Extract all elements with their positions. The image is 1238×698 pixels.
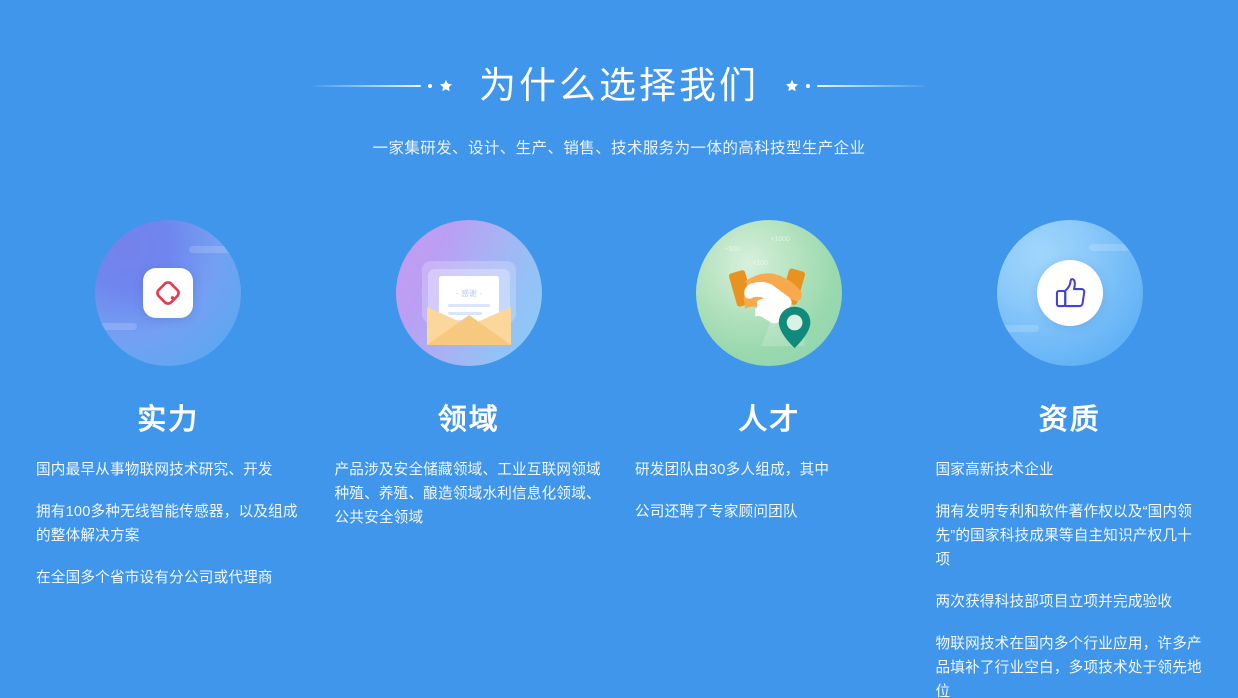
star-icon-right bbox=[785, 79, 799, 93]
icon-wrap-domain: - 感谢 - bbox=[333, 208, 606, 378]
thumbs-up-icon bbox=[1037, 260, 1103, 326]
section-header: 为什么选择我们 一家集研发、设计、生产、销售、技术服务为一体的高科技型生产企业 bbox=[0, 0, 1238, 158]
tag-diamond-icon bbox=[143, 268, 193, 318]
decoration-line-right bbox=[817, 85, 925, 87]
card-body-strength: 国内最早从事物联网技术研究、开发 拥有100多种无线智能传感器，以及组成的整体解… bbox=[32, 458, 305, 590]
decor-mark: +500 bbox=[724, 246, 740, 253]
card-paragraph: 拥有发明专利和软件著作权以及“国内领先”的国家科技成果等自主知识产权几十项 bbox=[936, 500, 1207, 572]
header-decoration-right bbox=[785, 76, 925, 96]
page-subtitle: 一家集研发、设计、生产、销售、技术服务为一体的高科技型生产企业 bbox=[0, 136, 1238, 158]
feature-card-qualification: 资质 国家高新技术企业 拥有发明专利和软件著作权以及“国内领先”的国家科技成果等… bbox=[920, 208, 1221, 698]
title-row: 为什么选择我们 bbox=[0, 58, 1238, 114]
decoration-dot-right bbox=[806, 84, 810, 88]
decorative-marks: +500 +1000 +100 bbox=[696, 220, 842, 366]
icon-circle-talent: +500 +1000 +100 bbox=[696, 220, 842, 366]
decor-mark: +100 bbox=[752, 260, 768, 267]
feature-cards: 实力 国内最早从事物联网技术研究、开发 拥有100多种无线智能传感器，以及组成的… bbox=[0, 208, 1238, 698]
card-title-qualification: 资质 bbox=[934, 402, 1207, 438]
star-icon-left bbox=[439, 79, 453, 93]
icon-wrap-qualification bbox=[934, 208, 1207, 378]
decoration-line-left bbox=[313, 85, 421, 87]
card-paragraph: 研发团队由30多人组成，其中 bbox=[635, 458, 906, 482]
icon-circle-strength bbox=[95, 220, 241, 366]
svg-text:- 感谢 -: - 感谢 - bbox=[456, 288, 482, 298]
page-root: { "page": { "background_color": "#3f96ea… bbox=[0, 0, 1238, 698]
card-paragraph: 国内最早从事物联网技术研究、开发 bbox=[36, 458, 305, 482]
icon-circle-qualification bbox=[997, 220, 1143, 366]
card-paragraph: 拥有100多种无线智能传感器，以及组成的整体解决方案 bbox=[36, 500, 305, 548]
feature-card-domain: - 感谢 - 领域 产品涉及安全储藏领域、工业互联网领域种殖、养殖、酿造领域水利… bbox=[319, 208, 620, 530]
icon-circle-domain: - 感谢 - bbox=[396, 220, 542, 366]
card-title-domain: 领域 bbox=[333, 402, 606, 438]
card-title-strength: 实力 bbox=[32, 402, 305, 438]
feature-card-strength: 实力 国内最早从事物联网技术研究、开发 拥有100多种无线智能传感器，以及组成的… bbox=[18, 208, 319, 590]
card-body-domain: 产品涉及安全储藏领域、工业互联网领域种殖、养殖、酿造领域水利信息化领域、公共安全… bbox=[333, 458, 606, 530]
header-decoration-left bbox=[313, 76, 453, 96]
card-paragraph: 产品涉及安全储藏领域、工业互联网领域种殖、养殖、酿造领域水利信息化领域、公共安全… bbox=[335, 458, 606, 530]
card-paragraph: 公司还聘了专家顾问团队 bbox=[635, 500, 906, 524]
card-body-talent: 研发团队由30多人组成，其中 公司还聘了专家顾问团队 bbox=[633, 458, 906, 524]
icon-wrap-talent: +500 +1000 +100 bbox=[633, 208, 906, 378]
card-title-talent: 人才 bbox=[633, 402, 906, 438]
decoration-dot-left bbox=[428, 84, 432, 88]
card-paragraph: 国家高新技术企业 bbox=[936, 458, 1207, 482]
card-paragraph: 物联网技术在国内多个行业应用，许多产品填补了行业空白，多项技术处于领先地位 bbox=[936, 632, 1207, 698]
card-paragraph: 两次获得科技部项目立项并完成验收 bbox=[936, 590, 1207, 614]
icon-wrap-strength bbox=[32, 208, 305, 378]
feature-card-talent: +500 +1000 +100 bbox=[619, 208, 920, 524]
card-paragraph: 在全国多个省市设有分公司或代理商 bbox=[36, 566, 305, 590]
decor-mark: +1000 bbox=[770, 236, 790, 243]
page-title: 为什么选择我们 bbox=[453, 61, 785, 111]
envelope-letter-icon: - 感谢 - bbox=[405, 229, 533, 357]
card-body-qualification: 国家高新技术企业 拥有发明专利和软件著作权以及“国内领先”的国家科技成果等自主知… bbox=[934, 458, 1207, 698]
